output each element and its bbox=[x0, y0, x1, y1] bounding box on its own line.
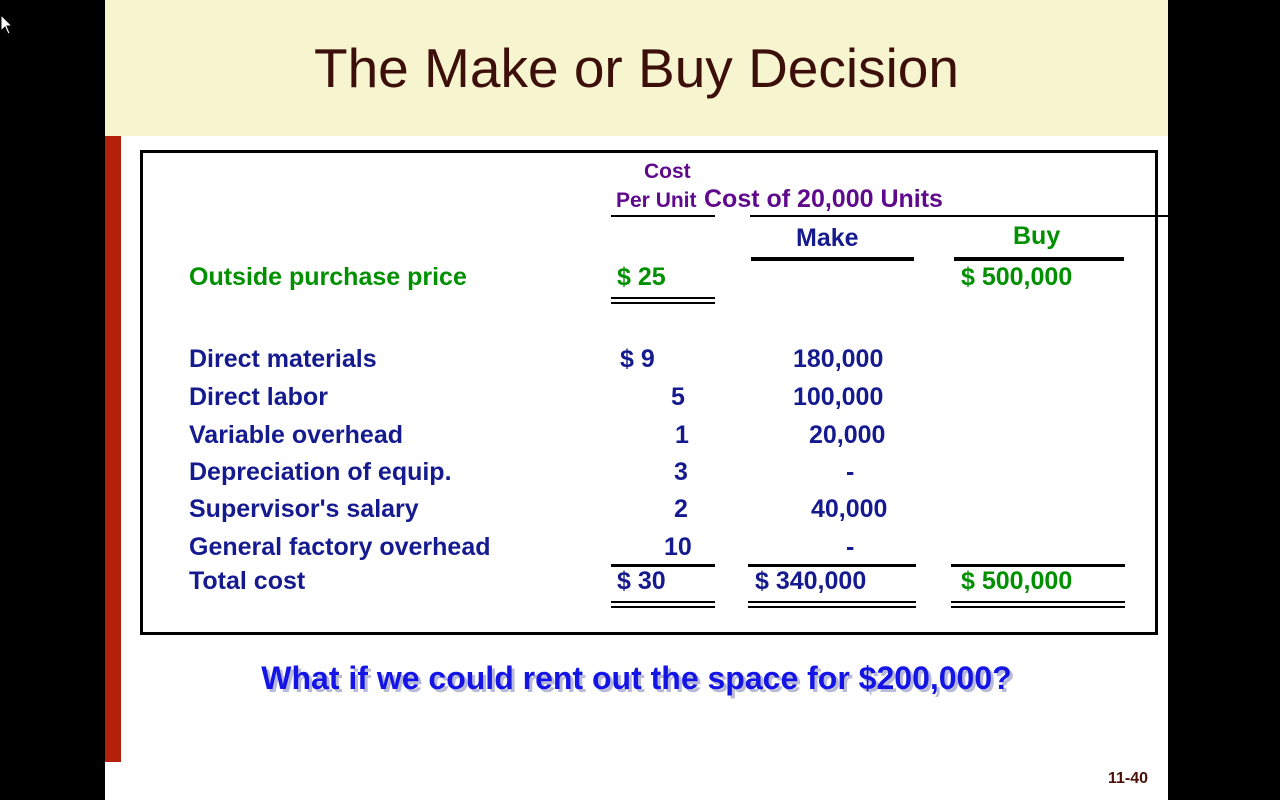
row-make: - bbox=[846, 458, 854, 487]
rule-total-bot-per-unit-b bbox=[611, 606, 715, 608]
header-cost-of-units: Cost of 20,000 Units bbox=[704, 185, 943, 214]
presentation-slide: The Make or Buy Decision Cost Per Unit C… bbox=[105, 0, 1168, 800]
row-make: 100,000 bbox=[793, 383, 883, 412]
header-buy: Buy bbox=[1013, 222, 1060, 251]
row-per-unit: 1 bbox=[675, 421, 689, 450]
row-per-unit: $ 25 bbox=[617, 263, 666, 292]
row-label: Depreciation of equip. bbox=[189, 458, 452, 487]
row-make: 180,000 bbox=[793, 345, 883, 374]
slide-caption: What if we could rent out the space for … bbox=[105, 660, 1168, 697]
row-per-unit: 2 bbox=[674, 495, 688, 524]
slide-viewer: The Make or Buy Decision Cost Per Unit C… bbox=[0, 0, 1280, 800]
row-buy: $ 500,000 bbox=[961, 263, 1072, 292]
header-make: Make bbox=[796, 224, 859, 253]
total-label: Total cost bbox=[189, 567, 305, 596]
header-cost-line1: Cost bbox=[644, 160, 691, 184]
slide-number: 11-40 bbox=[105, 770, 1148, 788]
cost-comparison-table: Cost Per Unit Cost of 20,000 Units Make … bbox=[140, 150, 1158, 635]
row-label: General factory overhead bbox=[189, 533, 491, 562]
row-per-unit: 5 bbox=[671, 383, 685, 412]
rule-total-bot-make-a bbox=[748, 601, 916, 603]
rule-outside-price-a bbox=[611, 297, 715, 299]
row-per-unit: 3 bbox=[674, 458, 688, 487]
rule-total-bot-buy-b bbox=[951, 606, 1125, 608]
rule-total-bot-buy-a bbox=[951, 601, 1125, 603]
total-buy: $ 500,000 bbox=[961, 567, 1072, 596]
row-make: - bbox=[846, 533, 854, 562]
row-make: 40,000 bbox=[811, 495, 887, 524]
mouse-cursor-icon bbox=[0, 14, 14, 36]
rule-total-bot-per-unit-a bbox=[611, 601, 715, 603]
row-make: 20,000 bbox=[809, 421, 885, 450]
rule-total-bot-make-b bbox=[748, 606, 916, 608]
rule-outside-price-b bbox=[611, 302, 715, 304]
row-label: Supervisor's salary bbox=[189, 495, 419, 524]
row-label: Variable overhead bbox=[189, 421, 403, 450]
row-label: Direct labor bbox=[189, 383, 328, 412]
page-title: The Make or Buy Decision bbox=[105, 0, 1168, 136]
total-per-unit: $ 30 bbox=[617, 567, 666, 596]
row-label: Direct materials bbox=[189, 345, 377, 374]
rule-per-unit-header bbox=[611, 215, 715, 217]
header-cost-line2: Per Unit bbox=[616, 189, 697, 213]
total-make: $ 340,000 bbox=[755, 567, 866, 596]
row-label: Outside purchase price bbox=[189, 263, 467, 292]
rule-buy-header bbox=[954, 257, 1124, 261]
row-per-unit: 10 bbox=[664, 533, 692, 562]
rule-group-header bbox=[750, 215, 1263, 217]
row-per-unit: $ 9 bbox=[620, 345, 655, 374]
rule-make-header bbox=[751, 257, 914, 261]
